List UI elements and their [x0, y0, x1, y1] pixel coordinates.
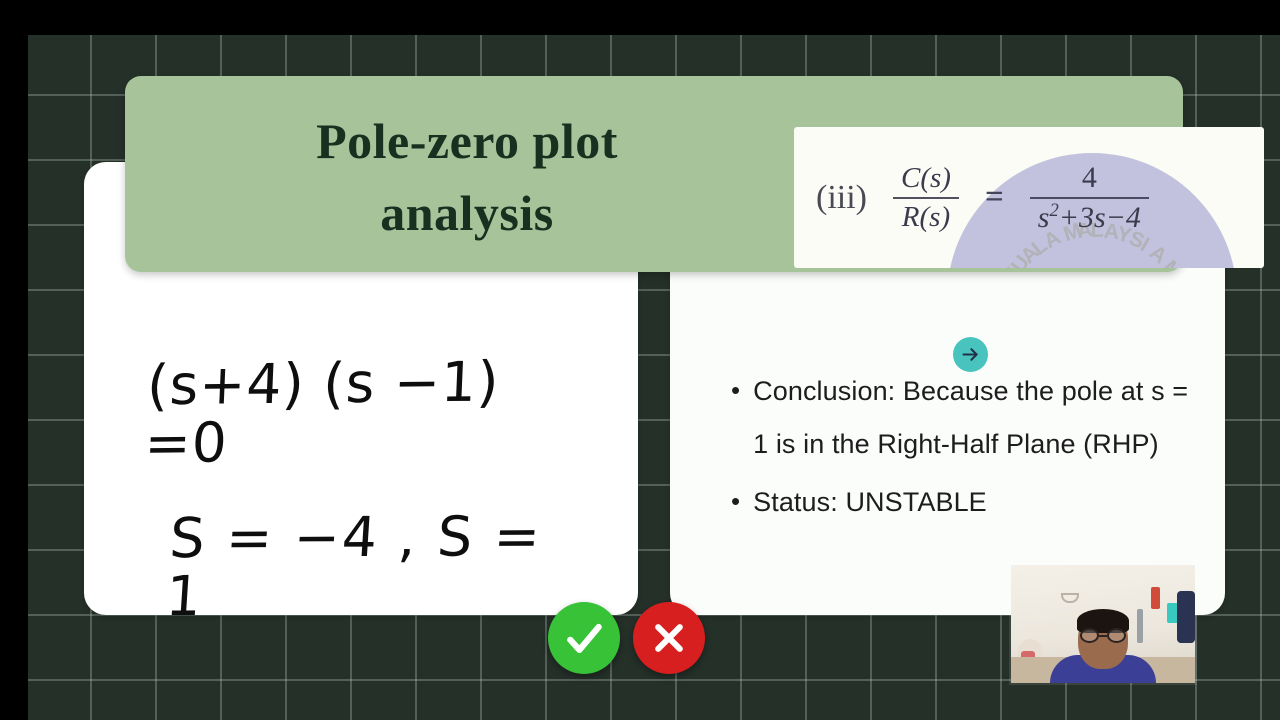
- page-title: Pole-zero plot analysis: [187, 102, 747, 252]
- rhs-fraction: 4 s2+3s−4: [1030, 161, 1149, 234]
- rhs-numerator: 4: [1074, 161, 1105, 195]
- list-item: • Conclusion: Because the pole at s = 1 …: [731, 365, 1206, 472]
- wall-red-object: [1151, 587, 1160, 609]
- lhs-fraction-bar: [893, 197, 959, 199]
- handwriting-line-2: S = −4 , S = 1: [164, 507, 580, 625]
- lhs-fraction: C(s) R(s): [893, 162, 959, 233]
- bullet-text-conclusion: Conclusion: Because the pole at s = 1 is…: [753, 365, 1206, 472]
- title-banner: Pole-zero plot analysis K U A L A M A L …: [125, 76, 1183, 272]
- transfer-function-image: K U A L A M A L A Y S I A M E (: [794, 127, 1264, 268]
- check-icon[interactable]: [548, 602, 620, 674]
- equals-sign: =: [985, 179, 1004, 216]
- wall-pole-object: [1137, 609, 1143, 643]
- lhs-denominator: R(s): [894, 201, 958, 233]
- formula-label: (iii): [816, 179, 867, 217]
- bullet-marker: •: [731, 365, 740, 415]
- rhs-fraction-bar: [1030, 197, 1149, 199]
- rhs-den-rest: +3s−4: [1059, 201, 1141, 234]
- conclusion-bullet-list: • Conclusion: Because the pole at s = 1 …: [731, 365, 1206, 533]
- page-title-line1: Pole-zero plot: [316, 113, 618, 169]
- formula-row: (iii) C(s) R(s) = 4 s2+3s−4: [794, 127, 1264, 268]
- screen-recording-frame: Pole-zero plot analysis K U A L A M A L …: [0, 0, 1280, 720]
- webcam-video-thumbnail[interactable]: [1011, 565, 1195, 683]
- list-item: • Status: UNSTABLE: [731, 476, 1206, 529]
- glasses-right-lens: [1107, 628, 1126, 643]
- rhs-denominator: s2+3s−4: [1030, 201, 1149, 235]
- handwritten-annotation: (s+4) (s −1) =0 S = −4 , S = 1: [146, 355, 576, 624]
- arrow-right-icon[interactable]: [953, 337, 988, 372]
- rhs-den-exponent: 2: [1049, 200, 1058, 221]
- rhs-den-base: s: [1038, 201, 1050, 234]
- glasses-left-lens: [1080, 628, 1099, 643]
- page-title-line2: analysis: [380, 185, 554, 241]
- bullet-marker: •: [731, 476, 740, 526]
- handwriting-line-1: (s+4) (s −1) =0: [143, 353, 578, 473]
- hanging-jacket-object: [1177, 591, 1195, 643]
- bullet-text-status: Status: UNSTABLE: [753, 476, 987, 529]
- glasses-bridge: [1099, 635, 1107, 637]
- close-icon[interactable]: [633, 602, 705, 674]
- lhs-numerator: C(s): [893, 162, 959, 194]
